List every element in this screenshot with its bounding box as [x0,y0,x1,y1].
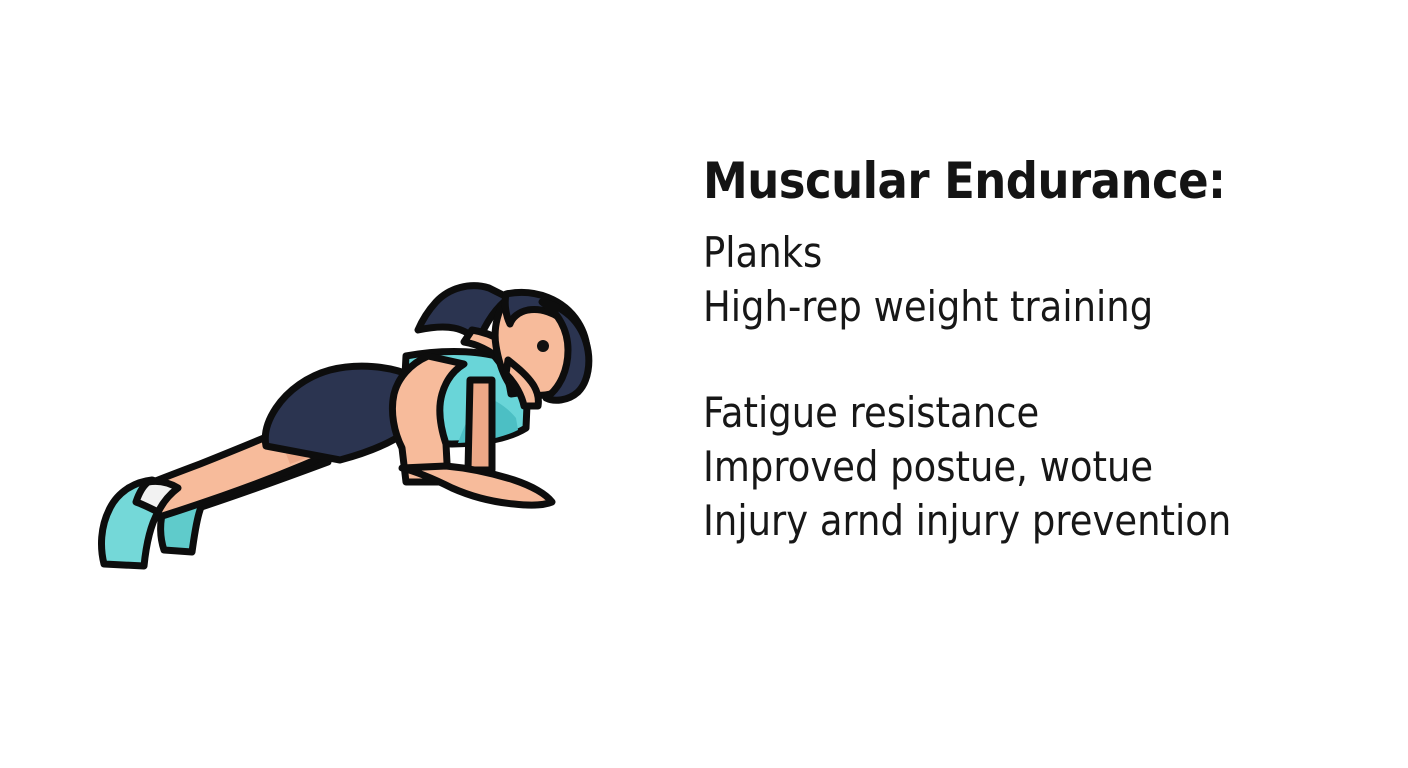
list-item: Planks [703,226,1319,280]
slide-canvas: Muscular Endurance: Planks High-rep weig… [0,0,1408,768]
eye-dot [537,340,549,352]
exercises-list: Planks High-rep weight training [703,226,1403,334]
forearm-hand-shape [402,466,552,505]
plank-exercise-illustration [40,230,660,590]
list-item: Improved postue, wotue [703,440,1319,494]
far-arm-shape [468,380,492,470]
page-title: Muscular Endurance: [703,155,1333,208]
text-column: Muscular Endurance: Planks High-rep weig… [703,155,1403,548]
plank-figure-svg [40,230,660,590]
list-item: High-rep weight training [703,280,1319,334]
list-item: Fatigue resistance [703,386,1319,440]
edge-artifact [1399,500,1403,528]
list-item: Injury arnd injury prevention [703,494,1319,548]
benefits-list: Fatigue resistance Improved postue, wotu… [703,386,1403,548]
section-spacer [703,334,1403,386]
